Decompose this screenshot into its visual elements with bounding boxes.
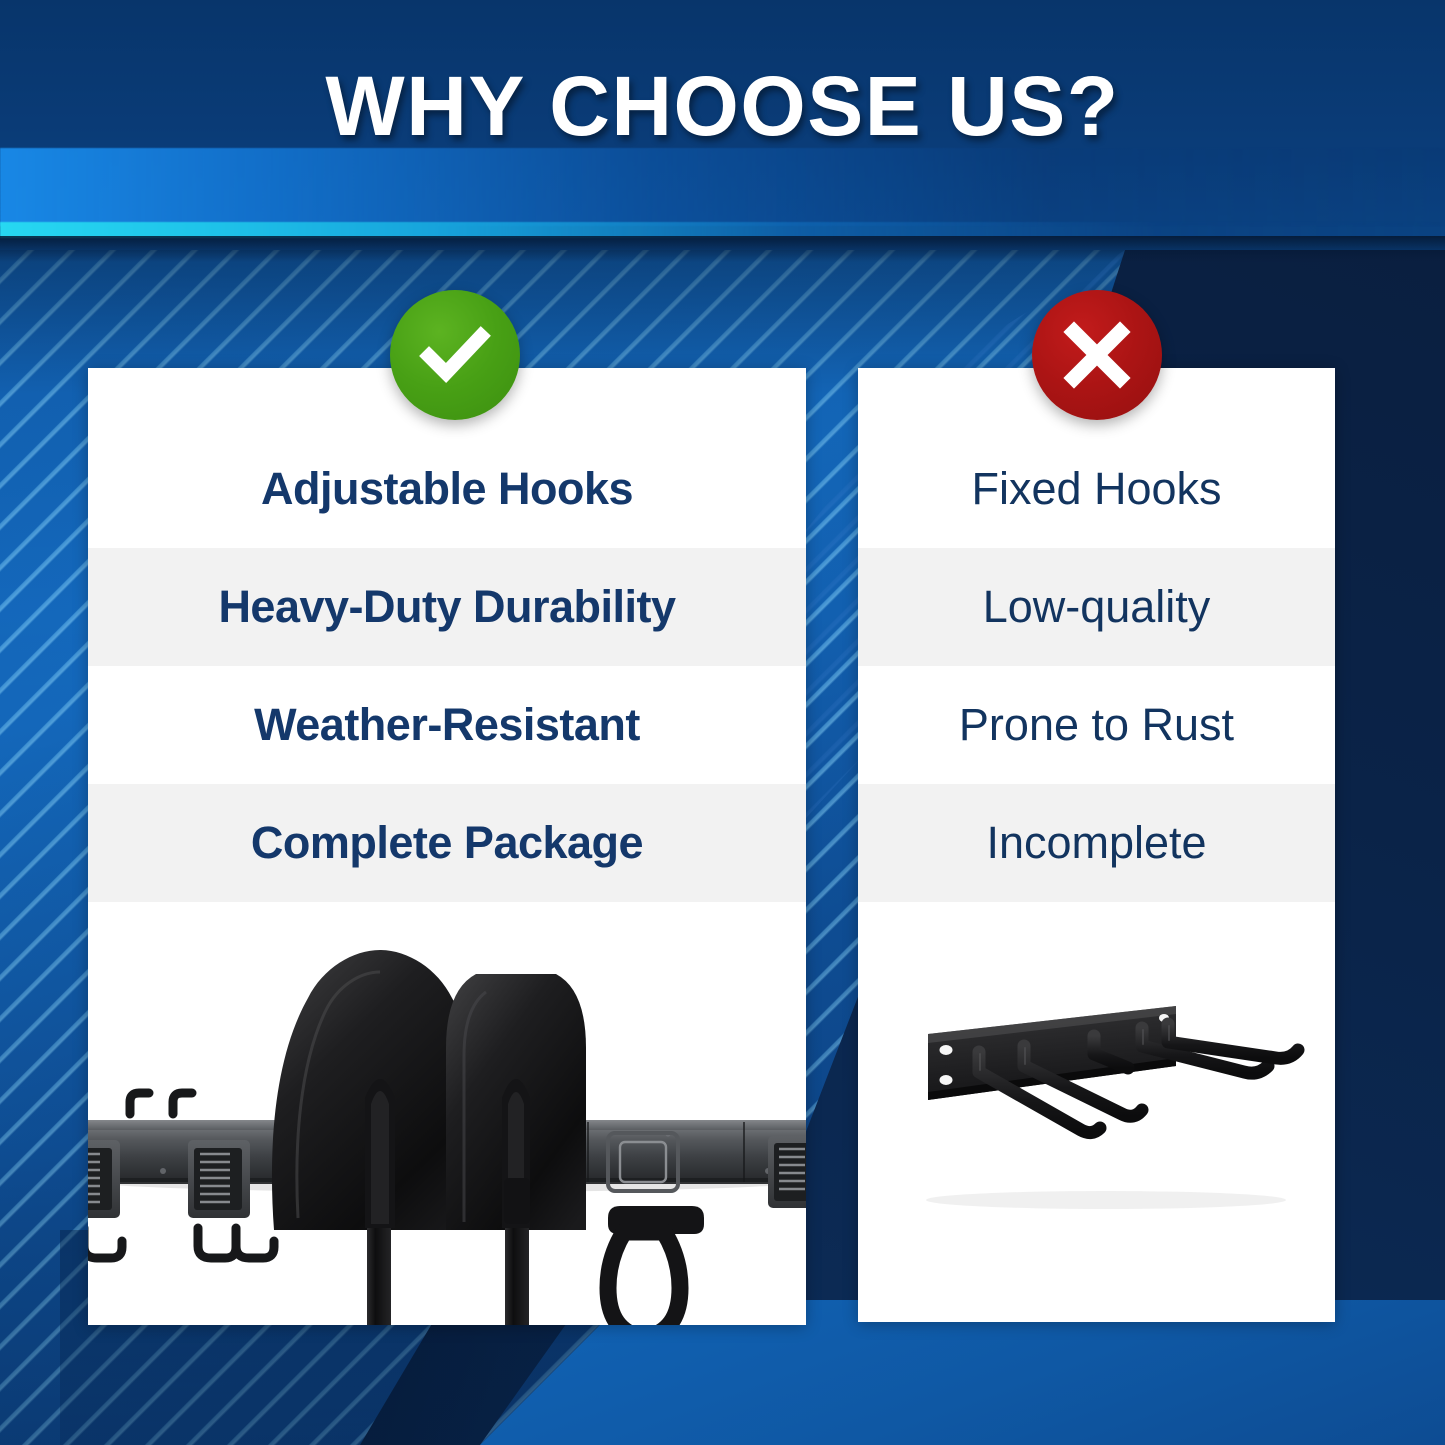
pros-row-label: Complete Package bbox=[251, 819, 643, 866]
cons-row-list: Fixed Hooks Low-quality Prone to Rust In… bbox=[858, 430, 1335, 902]
pros-row-list: Adjustable Hooks Heavy-Duty Durability W… bbox=[88, 430, 806, 902]
check-mark-glyph bbox=[416, 316, 494, 394]
header-shadow-band bbox=[0, 236, 1445, 262]
check-circle-icon bbox=[390, 290, 520, 420]
cons-row: Incomplete bbox=[858, 784, 1335, 902]
cons-row-label: Fixed Hooks bbox=[971, 465, 1221, 512]
cons-product-image bbox=[876, 988, 1318, 1238]
pros-card: Adjustable Hooks Heavy-Duty Durability W… bbox=[88, 368, 806, 1325]
cons-row: Low-quality bbox=[858, 548, 1335, 666]
page-title: WHY CHOOSE US? bbox=[0, 58, 1445, 155]
pros-row: Heavy-Duty Durability bbox=[88, 548, 806, 666]
x-mark-glyph bbox=[1062, 320, 1132, 390]
header-light-band bbox=[0, 148, 1445, 226]
pros-row: Weather-Resistant bbox=[88, 666, 806, 784]
pros-row-label: Adjustable Hooks bbox=[261, 465, 633, 512]
cons-row: Fixed Hooks bbox=[858, 430, 1335, 548]
cons-row: Prone to Rust bbox=[858, 666, 1335, 784]
pros-row: Adjustable Hooks bbox=[88, 430, 806, 548]
pros-row: Complete Package bbox=[88, 784, 806, 902]
cons-row-label: Incomplete bbox=[986, 819, 1206, 866]
pros-row-label: Heavy-Duty Durability bbox=[218, 583, 675, 630]
cons-row-label: Low-quality bbox=[983, 583, 1211, 630]
x-circle-icon bbox=[1032, 290, 1162, 420]
pros-product-image bbox=[88, 928, 806, 1325]
cons-card: Fixed Hooks Low-quality Prone to Rust In… bbox=[858, 368, 1335, 1322]
pros-row-label: Weather-Resistant bbox=[254, 701, 640, 748]
cons-row-label: Prone to Rust bbox=[959, 701, 1234, 748]
